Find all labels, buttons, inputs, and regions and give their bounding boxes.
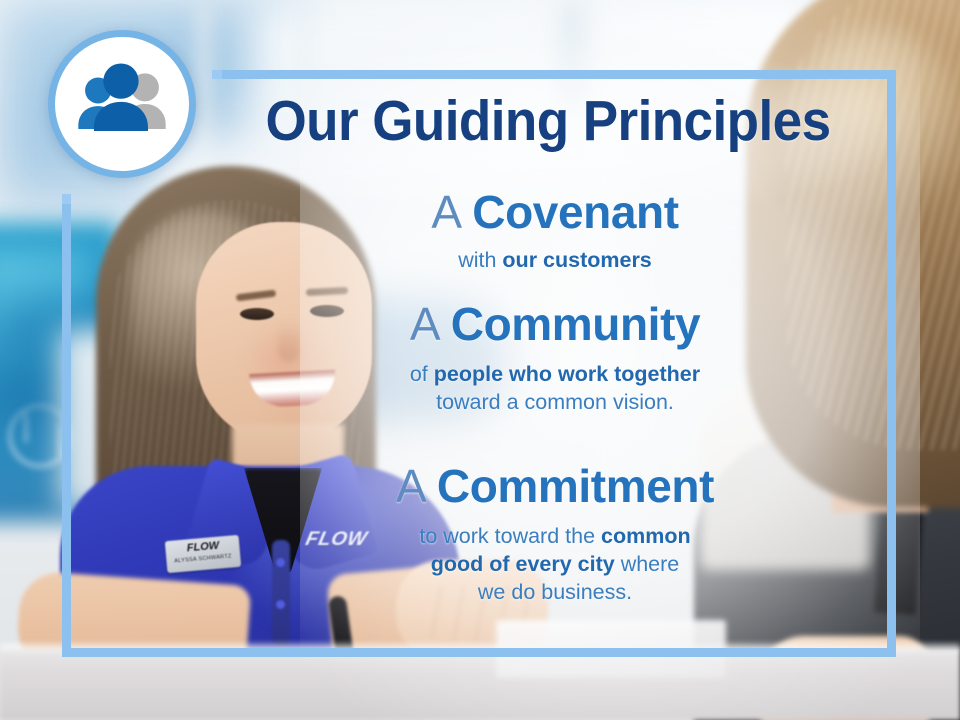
principle-block-community: A Community of people who work together … xyxy=(210,300,900,417)
principle-subtext-covenant: with our customers xyxy=(210,247,900,275)
subtext-plain: we do business. xyxy=(478,580,632,604)
subtext-line: toward a common vision. xyxy=(210,389,900,417)
subtext-bold: common xyxy=(601,524,691,548)
principle-subtext-community: of people who work together toward a com… xyxy=(210,361,900,417)
page-title: Our Guiding Principles xyxy=(241,92,855,151)
subtext-plain-2: where xyxy=(615,552,680,576)
principle-article: A xyxy=(410,298,438,350)
subtext-plain: with xyxy=(458,248,502,272)
principle-heading-commitment: A Commitment xyxy=(210,462,900,511)
subtext-bold: good of every city xyxy=(431,552,615,576)
guiding-principles-graphic: FLOW FLOW ALYSSA SCHWARTZ xyxy=(0,0,960,720)
subtext-bold: people who work together xyxy=(434,362,700,386)
subtext-line: to work toward the common xyxy=(210,523,900,551)
group-people-icon xyxy=(70,52,174,156)
subtext-plain: of xyxy=(410,362,434,386)
principle-noun: Community xyxy=(451,298,700,350)
text-content: Our Guiding Principles A Covenant with o… xyxy=(210,0,900,720)
principle-subtext-commitment: to work toward the common good of every … xyxy=(210,523,900,607)
principle-block-covenant: A Covenant with our customers xyxy=(210,188,900,275)
subtext-line: good of every city where xyxy=(210,551,900,579)
subtext-line: with our customers xyxy=(210,247,900,275)
badge-circle xyxy=(48,30,196,178)
subtext-plain: to work toward the xyxy=(419,524,601,548)
principle-article: A xyxy=(396,460,424,512)
subtext-line: of people who work together xyxy=(210,361,900,389)
principle-block-commitment: A Commitment to work toward the common g… xyxy=(210,462,900,607)
subtext-plain: toward a common vision. xyxy=(436,390,674,414)
principle-heading-covenant: A Covenant xyxy=(210,188,900,237)
principle-article: A xyxy=(431,186,459,238)
subtext-line: we do business. xyxy=(210,579,900,607)
principle-noun: Commitment xyxy=(437,460,714,512)
principle-heading-community: A Community xyxy=(210,300,900,349)
frame-left-border xyxy=(62,195,71,657)
principle-noun: Covenant xyxy=(472,186,678,238)
subtext-bold: our customers xyxy=(502,248,651,272)
